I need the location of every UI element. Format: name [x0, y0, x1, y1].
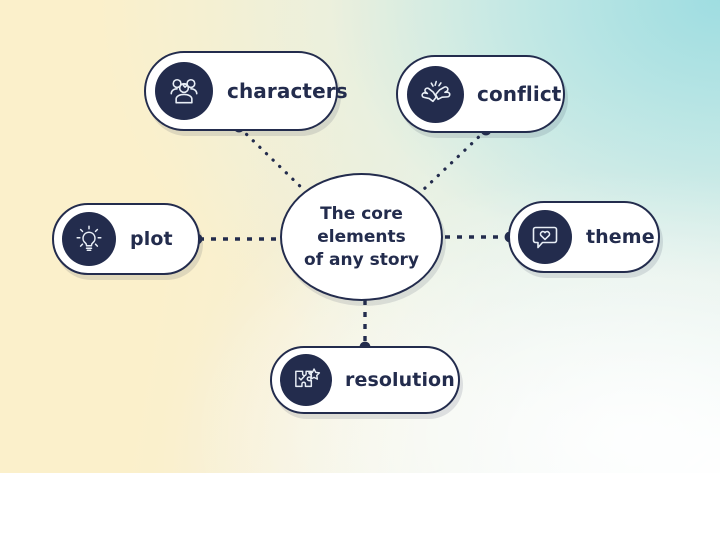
footer-bar: piktochart.com/blog — [0, 473, 720, 545]
connector-resolution-center — [360, 300, 371, 352]
center-node[interactable]: The core elements of any story — [280, 173, 443, 301]
characters-badge — [155, 62, 213, 120]
theme-label: theme — [586, 226, 655, 248]
node-conflict[interactable]: conflict — [396, 55, 565, 133]
plot-label: plot — [130, 228, 173, 250]
theme-badge — [518, 210, 572, 264]
heart-speech-bubble-icon — [529, 221, 561, 253]
conflict-label: conflict — [477, 82, 561, 106]
node-characters[interactable]: characters — [144, 51, 338, 131]
center-node-label: The core elements of any story — [304, 203, 419, 272]
connector-conflict-center — [423, 125, 491, 190]
connector-theme-center — [445, 232, 515, 243]
connector-plot-center — [192, 234, 278, 245]
people-group-icon — [167, 74, 201, 108]
connector-characters-center — [234, 122, 305, 191]
plot-badge — [62, 212, 116, 266]
clashing-fists-icon — [419, 77, 453, 111]
characters-label: characters — [227, 79, 348, 103]
lightbulb-idea-icon — [73, 223, 105, 255]
puzzle-check-icon — [291, 365, 322, 396]
infographic-canvas: The core elements of any story character… — [0, 0, 720, 545]
node-theme[interactable]: theme — [508, 201, 660, 273]
resolution-label: resolution — [345, 369, 455, 391]
node-plot[interactable]: plot — [52, 203, 200, 275]
resolution-badge — [280, 354, 332, 406]
node-resolution[interactable]: resolution — [270, 346, 460, 414]
conflict-badge — [407, 66, 464, 123]
